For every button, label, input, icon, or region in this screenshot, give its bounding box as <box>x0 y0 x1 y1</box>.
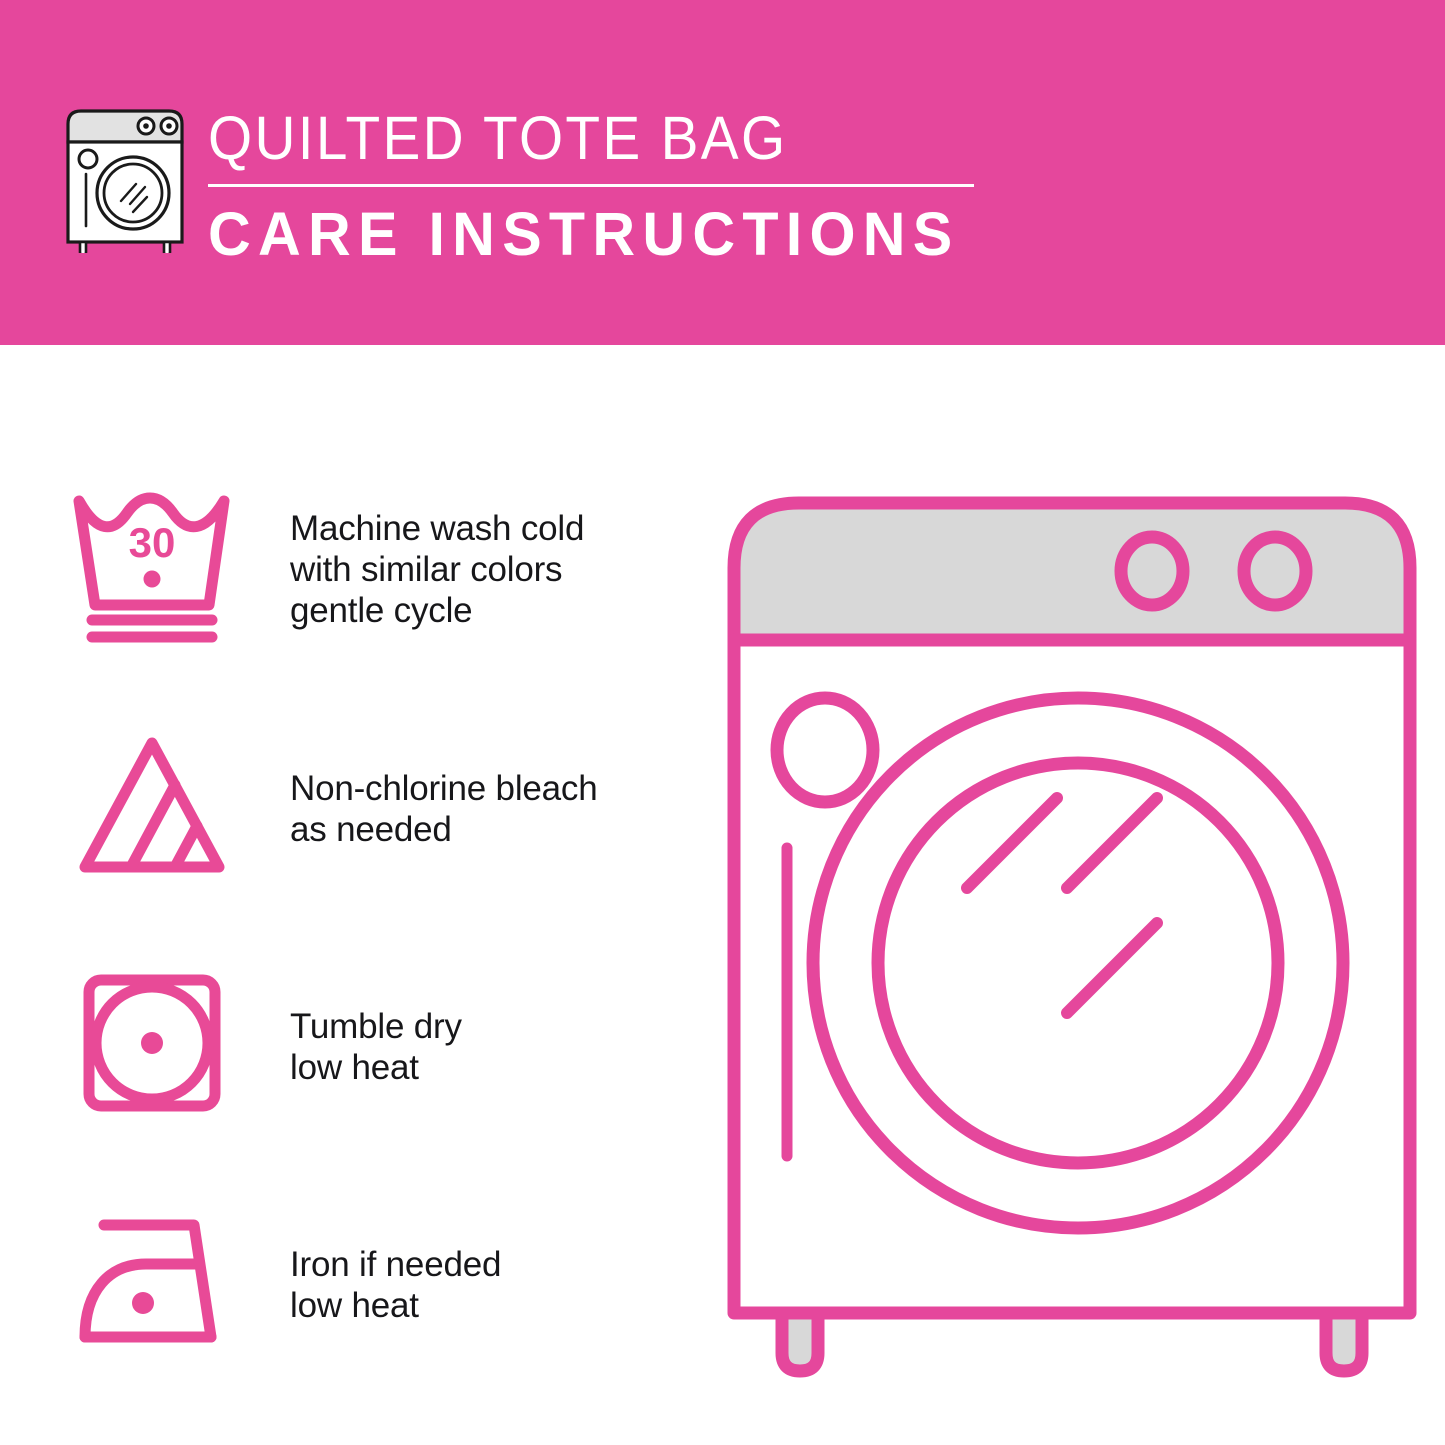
wash-tub-icon: 30 <box>62 482 242 652</box>
machine-knob-left <box>1121 537 1183 605</box>
care-instructions-page: QUILTED TOTE BAG CARE INSTRUCTIONS 30 <box>0 0 1445 1445</box>
care-label-line: gentle cycle <box>290 590 584 631</box>
care-label-line: Iron if needed <box>290 1244 501 1285</box>
care-instruction-list: 30 Machine wash cold with similar colors… <box>0 482 700 1434</box>
care-label-line: Machine wash cold <box>290 508 584 549</box>
machine-leg-left <box>782 1313 818 1371</box>
title-divider <box>208 184 974 187</box>
wash-temperature-value: 30 <box>129 519 176 566</box>
header-text-block: QUILTED TOTE BAG CARE INSTRUCTIONS <box>208 102 998 268</box>
machine-indicator-dial <box>777 698 873 802</box>
care-label-iron: Iron if needed low heat <box>290 1244 501 1326</box>
page-subtitle: CARE INSTRUCTIONS <box>208 200 974 268</box>
machine-door-inner <box>878 763 1278 1163</box>
bleach-triangle-icon <box>62 720 242 890</box>
care-label-line: as needed <box>290 809 598 850</box>
care-label-line: Non-chlorine bleach <box>290 768 598 809</box>
machine-leg-right <box>1326 1313 1362 1371</box>
care-label-machine-wash: Machine wash cold with similar colors ge… <box>290 508 584 631</box>
tumble-dry-icon <box>62 958 242 1128</box>
care-row-iron: Iron if needed low heat <box>0 1196 700 1434</box>
care-row-tumble-dry: Tumble dry low heat <box>0 958 700 1196</box>
washing-machine-icon <box>60 98 190 253</box>
large-washing-machine-illustration <box>712 468 1432 1378</box>
care-label-tumble-dry: Tumble dry low heat <box>290 1006 462 1088</box>
care-row-bleach: Non-chlorine bleach as needed <box>0 720 700 958</box>
care-label-line: low heat <box>290 1047 462 1088</box>
care-label-bleach: Non-chlorine bleach as needed <box>290 768 598 850</box>
care-label-line: low heat <box>290 1285 501 1326</box>
machine-knob-right <box>1244 537 1306 605</box>
care-row-machine-wash: 30 Machine wash cold with similar colors… <box>0 482 700 720</box>
care-label-line: Tumble dry <box>290 1006 462 1047</box>
header-banner: QUILTED TOTE BAG CARE INSTRUCTIONS <box>0 0 1445 345</box>
care-label-line: with similar colors <box>290 549 584 590</box>
iron-icon <box>62 1196 242 1366</box>
page-title: QUILTED TOTE BAG <box>208 102 943 174</box>
